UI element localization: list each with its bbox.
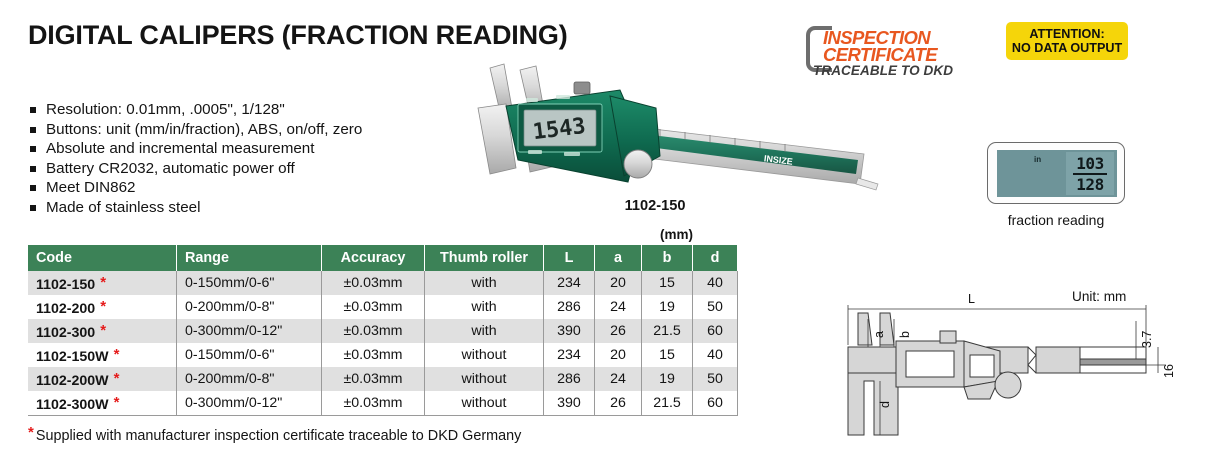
certificate-star-icon: *: [100, 322, 106, 339]
attention-line1: ATTENTION:: [1029, 27, 1104, 42]
cell-code: 1102-300W: [36, 397, 109, 413]
cell-thumb-roller: without: [425, 391, 544, 416]
list-item: Battery CR2032, automatic power off: [30, 159, 362, 179]
column-header-code: Code: [28, 245, 177, 271]
cell-range: 0-200mm/0-8": [177, 295, 322, 319]
table-row: 1102-300* 0-300mm/0-12" ±0.03mm with 390…: [28, 319, 738, 343]
cell-code: 1102-200: [36, 301, 95, 317]
cell-a: 24: [595, 295, 642, 319]
dimension-label-16: 16: [1162, 364, 1176, 378]
table-header-row: Code Range Accuracy Thumb roller L a b d: [28, 245, 738, 271]
certificate-star-icon: *: [114, 346, 120, 363]
cell-d: 50: [693, 367, 738, 391]
list-item: Meet DIN862: [30, 178, 362, 198]
cell-code: 1102-150: [36, 277, 95, 293]
lcd-denominator: 128: [1076, 176, 1103, 193]
cell-code: 1102-200W: [36, 373, 109, 389]
table-row: 1102-150* 0-150mm/0-6" ±0.03mm with 234 …: [28, 271, 738, 295]
feature-list: Resolution: 0.01mm, .0005", 1/128" Butto…: [30, 100, 362, 217]
column-header-b: b: [642, 245, 693, 271]
dimension-label-d: d: [878, 401, 892, 408]
list-item: Absolute and incremental measurement: [30, 139, 362, 159]
footnote-star-icon: *: [28, 424, 34, 441]
table-unit-note: (mm): [660, 227, 693, 242]
table-row: 1102-150W* 0-150mm/0-6" ±0.03mm without …: [28, 343, 738, 367]
fraction-reading-caption: fraction reading: [987, 212, 1125, 228]
certificate-star-icon: *: [114, 394, 120, 411]
certificate-star-icon: *: [100, 274, 106, 291]
cell-a: 20: [595, 343, 642, 367]
cell-thumb-roller: with: [425, 319, 544, 343]
column-header-a: a: [595, 245, 642, 271]
cell-d: 50: [693, 295, 738, 319]
attention-line2: NO DATA OUTPUT: [1012, 41, 1122, 56]
cell-accuracy: ±0.03mm: [322, 295, 425, 319]
list-item: Buttons: unit (mm/in/fraction), ABS, on/…: [30, 120, 362, 140]
cell-b: 19: [642, 295, 693, 319]
certificate-star-icon: *: [100, 298, 106, 315]
table-footnote: *Supplied with manufacturer inspection c…: [28, 424, 521, 444]
specification-table: Code Range Accuracy Thumb roller L a b d…: [28, 245, 738, 416]
list-item: Resolution: 0.01mm, .0005", 1/128": [30, 100, 362, 120]
cell-b: 21.5: [642, 391, 693, 416]
cell-b: 15: [642, 271, 693, 295]
cell-range: 0-150mm/0-6": [177, 343, 322, 367]
cell-range: 0-300mm/0-12": [177, 391, 322, 416]
cell-b: 19: [642, 367, 693, 391]
cell-d: 60: [693, 319, 738, 343]
certificate-star-icon: *: [114, 370, 120, 387]
caliper-model-caption: 1102-150: [580, 198, 730, 214]
cell-l: 234: [544, 271, 595, 295]
column-header-d: d: [693, 245, 738, 271]
cell-d: 60: [693, 391, 738, 416]
cell-range: 0-150mm/0-6": [177, 271, 322, 295]
cell-thumb-roller: with: [425, 271, 544, 295]
column-header-accuracy: Accuracy: [322, 245, 425, 271]
dimension-label-L: L: [968, 292, 975, 306]
lcd-fraction-value: 103 128: [1066, 152, 1114, 195]
drawing-unit-label: Unit: mm: [1072, 289, 1126, 304]
table-row: 1102-200W* 0-200mm/0-8" ±0.03mm without …: [28, 367, 738, 391]
cell-b: 15: [642, 343, 693, 367]
cell-l: 286: [544, 367, 595, 391]
cell-range: 0-300mm/0-12": [177, 319, 322, 343]
cell-accuracy: ±0.03mm: [322, 271, 425, 295]
table-row: 1102-200* 0-200mm/0-8" ±0.03mm with 286 …: [28, 295, 738, 319]
dimension-label-3-7: 3.7: [1140, 331, 1154, 348]
cell-thumb-roller: without: [425, 367, 544, 391]
cell-a: 20: [595, 271, 642, 295]
lcd-numerator: 103: [1076, 155, 1103, 172]
cell-a: 26: [595, 319, 642, 343]
cell-accuracy: ±0.03mm: [322, 343, 425, 367]
cell-l: 234: [544, 343, 595, 367]
cell-code: 1102-300: [36, 325, 95, 341]
caliper-technical-drawing: [840, 285, 1202, 465]
fraction-reading-inset: in 103 128: [987, 142, 1125, 204]
cell-thumb-roller: without: [425, 343, 544, 367]
cell-l: 390: [544, 391, 595, 416]
column-header-l: L: [544, 245, 595, 271]
cell-l: 286: [544, 295, 595, 319]
cell-thumb-roller: with: [425, 295, 544, 319]
cell-accuracy: ±0.03mm: [322, 367, 425, 391]
cell-d: 40: [693, 343, 738, 367]
list-item: Made of stainless steel: [30, 198, 362, 218]
column-header-thumb-roller: Thumb roller: [425, 245, 544, 271]
cell-a: 24: [595, 367, 642, 391]
cell-l: 390: [544, 319, 595, 343]
caliper-product-image: 1543 INSIZE: [460, 60, 880, 200]
footnote-text: Supplied with manufacturer inspection ce…: [36, 428, 522, 444]
cell-range: 0-200mm/0-8": [177, 367, 322, 391]
page-title: DIGITAL CALIPERS (FRACTION READING): [28, 20, 568, 51]
dimension-label-a: a: [872, 331, 886, 338]
lcd-screen: in 103 128: [997, 150, 1117, 197]
attention-badge: ATTENTION: NO DATA OUTPUT: [1006, 22, 1128, 60]
column-header-range: Range: [177, 245, 322, 271]
table-row: 1102-300W* 0-300mm/0-12" ±0.03mm without…: [28, 391, 738, 416]
lcd-unit-label: in: [1034, 155, 1041, 164]
dimension-label-b: b: [898, 331, 912, 338]
cell-accuracy: ±0.03mm: [322, 391, 425, 416]
cell-b: 21.5: [642, 319, 693, 343]
cell-a: 26: [595, 391, 642, 416]
cell-code: 1102-150W: [36, 349, 109, 365]
cell-accuracy: ±0.03mm: [322, 319, 425, 343]
cell-d: 40: [693, 271, 738, 295]
